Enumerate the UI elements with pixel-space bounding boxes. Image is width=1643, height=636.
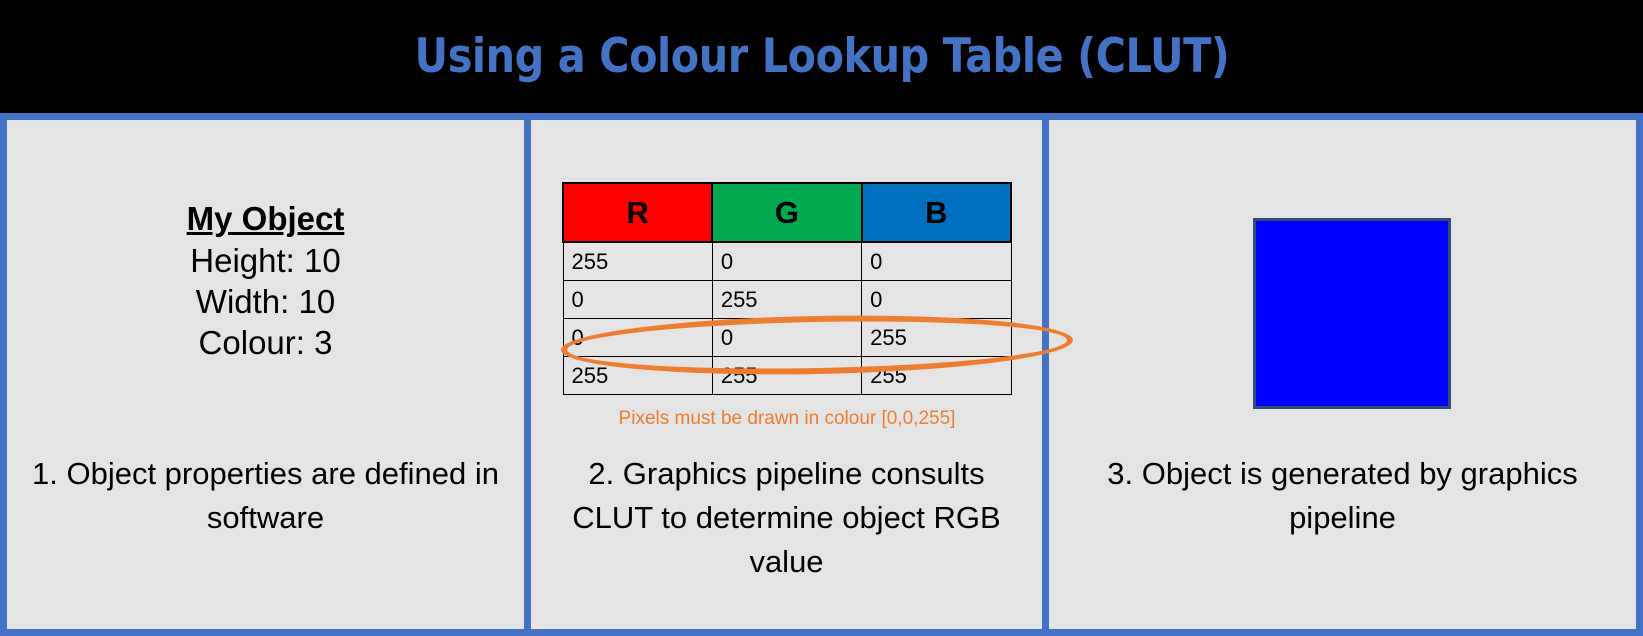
object-property-height: Height: 10 <box>7 240 524 281</box>
clut-cell: 0 <box>563 281 712 319</box>
blue-object-swatch <box>1253 218 1451 409</box>
clut-cell: 255 <box>862 357 1011 395</box>
table-row-highlighted: 0 0 255 <box>563 319 1011 357</box>
step-caption-2: 2. Graphics pipeline consults CLUT to de… <box>551 452 1022 584</box>
object-title: My Object <box>187 198 345 239</box>
clut-note: Pixels must be drawn in colour [0,0,255] <box>562 408 1012 430</box>
clut-cell: 255 <box>563 357 712 395</box>
clut-table: R G B 255 0 0 0 255 0 0 0 <box>562 182 1012 395</box>
panel-generated-object: 3. Object is generated by graphics pipel… <box>1049 120 1636 629</box>
object-property-colour: Colour: 3 <box>7 322 524 363</box>
clut-slide: Using a Colour Lookup Table (CLUT) My Ob… <box>0 0 1643 636</box>
clut-header-r: R <box>563 183 712 242</box>
clut-cell: 0 <box>862 281 1011 319</box>
object-property-width: Width: 10 <box>7 281 524 322</box>
page-title: Using a Colour Lookup Table (CLUT) <box>414 29 1229 84</box>
table-row: 255 0 0 <box>563 242 1011 281</box>
clut-cell: 0 <box>712 319 861 357</box>
clut-header-g: G <box>712 183 861 242</box>
clut-cell: 255 <box>862 319 1011 357</box>
object-properties-block: My Object Height: 10 Width: 10 Colour: 3 <box>7 198 524 363</box>
clut-cell: 255 <box>712 357 861 395</box>
clut-cell: 0 <box>712 242 861 281</box>
clut-header-b: B <box>862 183 1011 242</box>
clut-cell: 255 <box>712 281 861 319</box>
panel-software-definition: My Object Height: 10 Width: 10 Colour: 3… <box>7 120 524 629</box>
step-caption-3: 3. Object is generated by graphics pipel… <box>1089 452 1596 540</box>
clut-cell: 0 <box>862 242 1011 281</box>
clut-cell: 255 <box>563 242 712 281</box>
table-row: 255 255 255 <box>563 357 1011 395</box>
panel-divider-1 <box>524 113 531 636</box>
clut-cell: 0 <box>563 319 712 357</box>
table-row: 0 255 0 <box>563 281 1011 319</box>
step-caption-1: 1. Object properties are defined in soft… <box>15 452 516 540</box>
panel-divider-2 <box>1042 113 1049 636</box>
clut-header-row: R G B <box>563 183 1011 242</box>
slide-title-bar: Using a Colour Lookup Table (CLUT) <box>0 0 1643 113</box>
panel-clut-lookup: R G B 255 0 0 0 255 0 0 0 <box>531 120 1042 629</box>
